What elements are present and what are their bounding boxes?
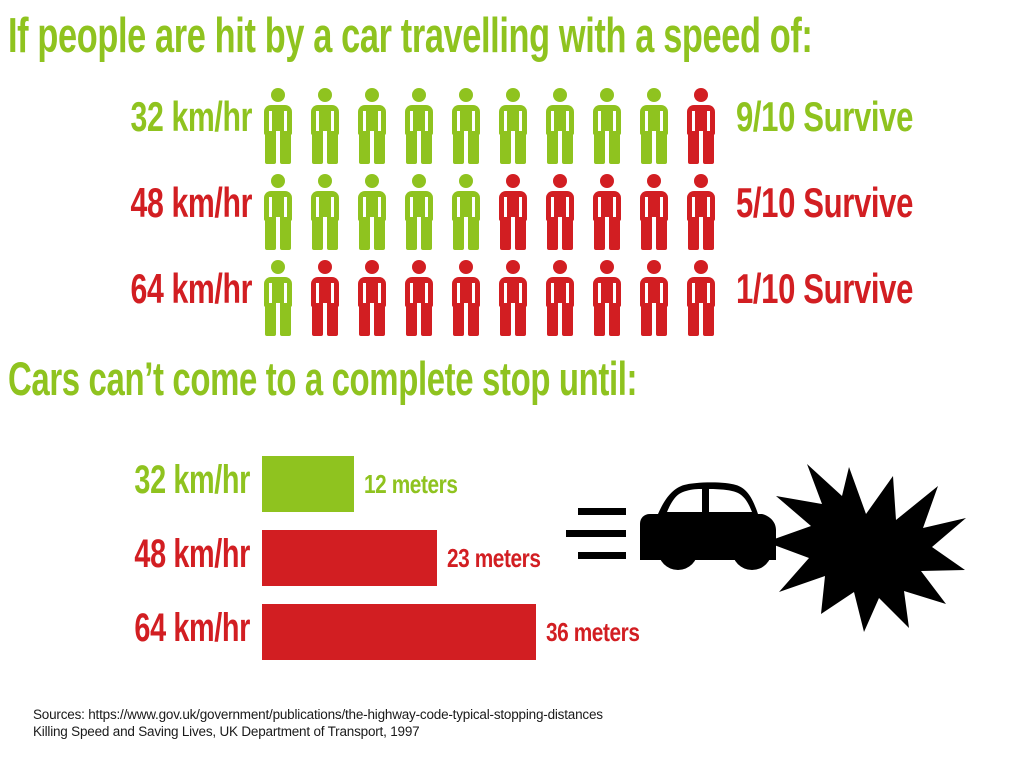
survival-row-64: 64 km/hr 1/10 Survive <box>0 256 1024 342</box>
person-icon-survived <box>356 174 388 250</box>
survival-pictogram-chart: 32 km/hr 9/10 Survive 48 km/hr 5/10 Surv… <box>0 84 1024 342</box>
person-icon-survived <box>262 260 294 336</box>
person-icon-survived <box>544 88 576 164</box>
person-icon-fatality <box>685 174 717 250</box>
survival-figures-64 <box>262 256 732 342</box>
person-icon-survived <box>262 88 294 164</box>
person-icon-survived <box>356 88 388 164</box>
person-icon-fatality <box>638 174 670 250</box>
person-icon-survived <box>591 88 623 164</box>
sources-line-1: Sources: https://www.gov.uk/government/p… <box>33 706 603 723</box>
person-icon-survived <box>638 88 670 164</box>
sources-note: Sources: https://www.gov.uk/government/p… <box>33 706 603 740</box>
person-icon-fatality <box>403 260 435 336</box>
person-icon-survived <box>309 174 341 250</box>
person-icon-fatality <box>356 260 388 336</box>
car-icon <box>640 482 776 570</box>
stopping-bar-track-64 <box>262 604 536 660</box>
survival-speed-label-64: 64 km/hr <box>115 264 252 314</box>
explosion-star-icon <box>766 464 966 632</box>
page-title-survival: If people are hit by a car travelling wi… <box>8 8 813 64</box>
person-icon-fatality <box>638 260 670 336</box>
person-icon-fatality <box>544 174 576 250</box>
survival-outcome-label-64: 1/10 Survive <box>736 264 913 314</box>
person-icon-survived <box>450 174 482 250</box>
stopping-bar-track-48 <box>262 530 437 586</box>
person-icon-survived <box>309 88 341 164</box>
page-title-stopping: Cars can’t come to a complete stop until… <box>8 352 637 406</box>
stopping-value-label-48: 23 meters <box>447 542 541 574</box>
person-icon-fatality <box>309 260 341 336</box>
survival-speed-label-32: 32 km/hr <box>115 92 252 142</box>
person-icon-fatality <box>685 260 717 336</box>
person-icon-fatality <box>591 260 623 336</box>
person-icon-survived <box>262 174 294 250</box>
stopping-bar-fill-32 <box>262 456 354 512</box>
stopping-speed-label-48: 48 km/hr <box>106 530 250 578</box>
person-icon-fatality <box>685 88 717 164</box>
person-icon-fatality <box>450 260 482 336</box>
stopping-bar-fill-64 <box>262 604 536 660</box>
person-icon-fatality <box>497 174 529 250</box>
survival-figures-32 <box>262 84 732 170</box>
survival-figures-48 <box>262 170 732 256</box>
survival-row-32: 32 km/hr 9/10 Survive <box>0 84 1024 170</box>
crash-illustration <box>566 452 966 632</box>
person-icon-survived <box>403 88 435 164</box>
sources-line-2: Killing Speed and Saving Lives, UK Depar… <box>33 723 603 740</box>
survival-outcome-label-48: 5/10 Survive <box>736 178 913 228</box>
speed-lines-icon <box>566 508 626 559</box>
person-icon-fatality <box>591 174 623 250</box>
person-icon-survived <box>497 88 529 164</box>
person-icon-survived <box>450 88 482 164</box>
stopping-speed-label-32: 32 km/hr <box>106 456 250 504</box>
person-icon-survived <box>403 174 435 250</box>
stopping-bar-track-32 <box>262 456 354 512</box>
survival-speed-label-48: 48 km/hr <box>115 178 252 228</box>
person-icon-fatality <box>497 260 529 336</box>
stopping-speed-label-64: 64 km/hr <box>106 604 250 652</box>
stopping-value-label-32: 12 meters <box>364 468 458 500</box>
stopping-bar-fill-48 <box>262 530 437 586</box>
person-icon-fatality <box>544 260 576 336</box>
survival-row-48: 48 km/hr 5/10 Survive <box>0 170 1024 256</box>
survival-outcome-label-32: 9/10 Survive <box>736 92 913 142</box>
